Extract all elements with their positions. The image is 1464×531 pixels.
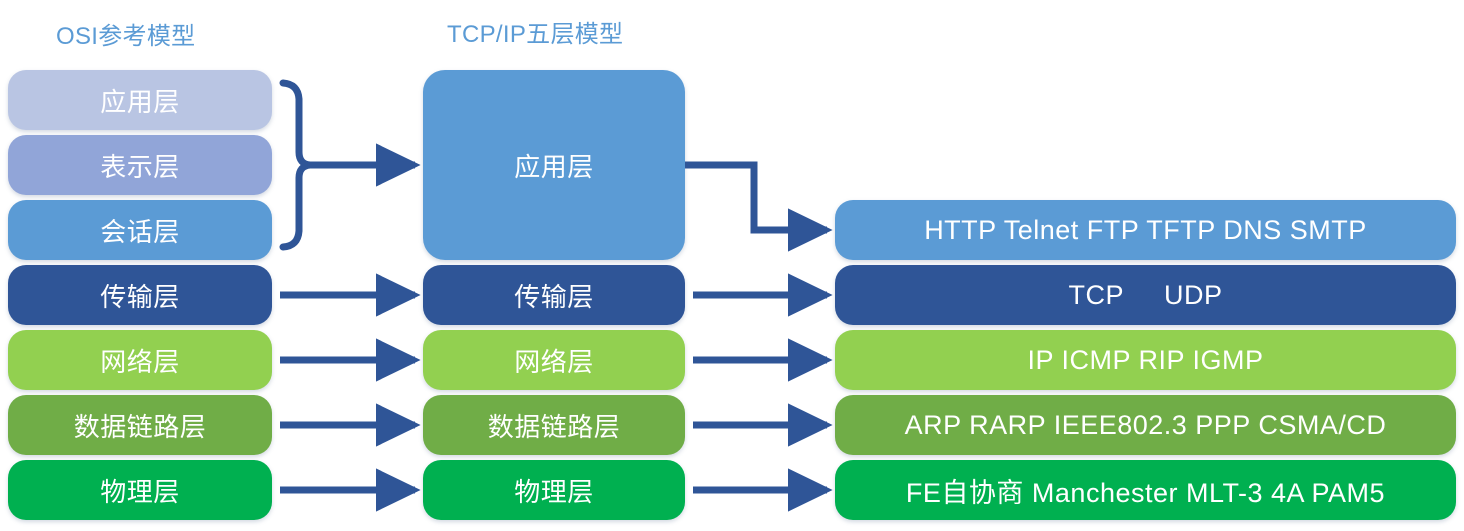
osi-layer-network-label: 网络层: [100, 342, 180, 379]
protocols-application[interactable]: HTTP Telnet FTP TFTP DNS SMTP: [835, 200, 1456, 260]
tcpip-layer-datalink[interactable]: 数据链路层: [423, 395, 685, 455]
protocols-physical[interactable]: FE自协商 Manchester MLT-3 4A PAM5: [835, 460, 1456, 520]
protocols-transport[interactable]: TCP UDP: [835, 265, 1456, 325]
tcpip-layer-physical-label: 物理层: [514, 472, 594, 509]
protocols-network[interactable]: IP ICMP RIP IGMP: [835, 330, 1456, 390]
osi-layer-datalink-label: 数据链路层: [74, 407, 207, 444]
osi-layer-application[interactable]: 应用层: [8, 70, 272, 130]
protocols-network-label: IP ICMP RIP IGMP: [1027, 345, 1263, 376]
osi-layer-datalink[interactable]: 数据链路层: [8, 395, 272, 455]
tcpip-layer-physical[interactable]: 物理层: [423, 460, 685, 520]
tcpip-model-title: TCP/IP五层模型: [447, 14, 623, 49]
osi-layer-network[interactable]: 网络层: [8, 330, 272, 390]
osi-layer-presentation-label: 表示层: [100, 147, 180, 184]
tcpip-layer-transport-label: 传输层: [514, 277, 594, 314]
osi-tcpip-layer-diagram: OSI参考模型 TCP/IP五层模型 应用层 表示层 会话层 传输层 网络层 数…: [0, 0, 1464, 531]
tcpip-layer-datalink-label: 数据链路层: [488, 407, 621, 444]
tcpip-layer-transport[interactable]: 传输层: [423, 265, 685, 325]
osi-layer-presentation[interactable]: 表示层: [8, 135, 272, 195]
osi-layer-physical[interactable]: 物理层: [8, 460, 272, 520]
osi-layer-physical-label: 物理层: [100, 472, 180, 509]
osi-layer-application-label: 应用层: [100, 82, 180, 119]
osi-layer-session[interactable]: 会话层: [8, 200, 272, 260]
tcpip-layer-application[interactable]: 应用层: [423, 70, 685, 260]
tcpip-layer-application-label: 应用层: [514, 147, 594, 184]
osi-layer-transport-label: 传输层: [100, 277, 180, 314]
osi-layer-session-label: 会话层: [100, 212, 180, 249]
osi-model-title: OSI参考模型: [56, 16, 195, 51]
elbow-tcpip-application-to-protocols: [685, 165, 827, 230]
protocols-datalink-label: ARP RARP IEEE802.3 PPP CSMA/CD: [905, 410, 1387, 441]
osi-layer-transport[interactable]: 传输层: [8, 265, 272, 325]
protocols-physical-label: FE自协商 Manchester MLT-3 4A PAM5: [906, 471, 1385, 510]
protocols-application-label: HTTP Telnet FTP TFTP DNS SMTP: [924, 215, 1367, 246]
tcpip-layer-network[interactable]: 网络层: [423, 330, 685, 390]
protocols-datalink[interactable]: ARP RARP IEEE802.3 PPP CSMA/CD: [835, 395, 1456, 455]
protocols-transport-label: TCP UDP: [1068, 280, 1222, 311]
curly-brace-icon: [283, 83, 310, 247]
tcpip-layer-network-label: 网络层: [514, 342, 594, 379]
